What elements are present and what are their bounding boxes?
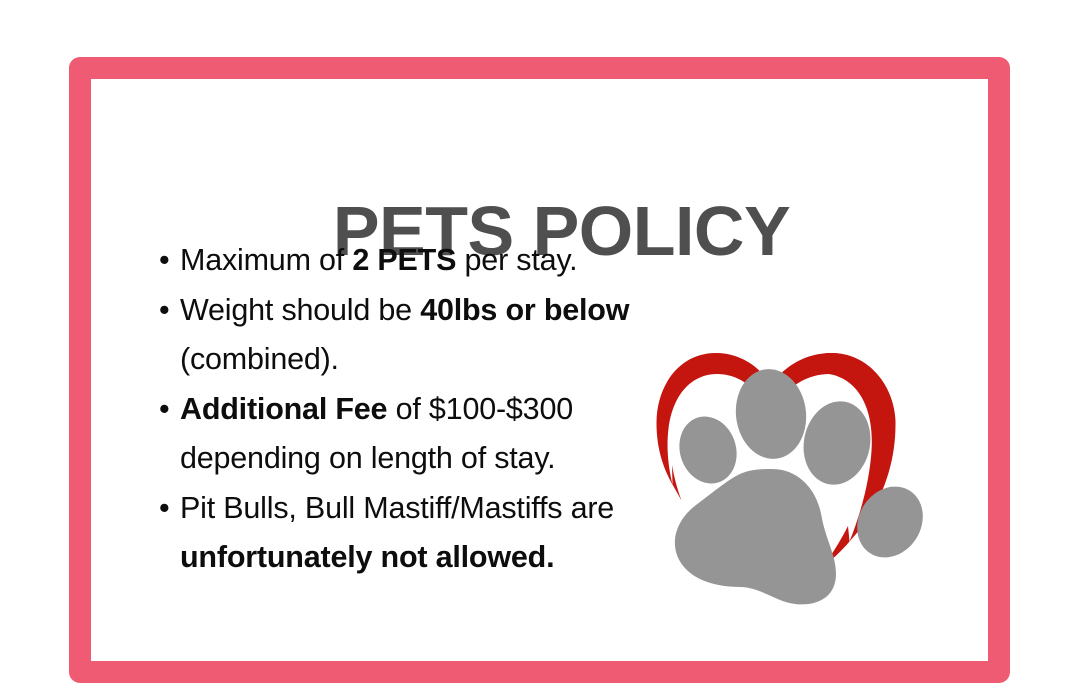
list-item: (combined).	[159, 336, 659, 384]
paw-main-pad	[675, 469, 836, 604]
list-item-text: Pit Bulls, Bull Mastiff/Mastiffs are	[180, 491, 614, 525]
list-item: •Maximum of 2 PETS per stay.	[159, 237, 659, 285]
list-item-text: per stay.	[456, 243, 577, 277]
bullet-point-icon: •	[159, 386, 169, 434]
bullet-point-icon: •	[159, 485, 169, 533]
bullet-point-icon: •	[159, 287, 169, 335]
heart-left-tip	[672, 465, 682, 501]
policy-bullet-list: •Maximum of 2 PETS per stay.•Weight shou…	[159, 237, 659, 584]
list-item-emphasis: unfortunately not allowed.	[180, 540, 554, 574]
pets-policy-sign: PETS POLICY •Maximum of 2 PETS per stay.…	[0, 0, 1080, 700]
list-item-text: depending on length of stay.	[180, 441, 555, 475]
list-item-text: Maximum of	[180, 243, 352, 277]
paw-toe-inner-right	[796, 395, 878, 491]
list-item: •Pit Bulls, Bull Mastiff/Mastiffs are	[159, 485, 659, 533]
list-item: unfortunately not allowed.	[159, 534, 659, 582]
list-item-emphasis: 2 PETS	[352, 243, 456, 277]
list-item: depending on length of stay.	[159, 435, 659, 483]
policy-card-frame: PETS POLICY •Maximum of 2 PETS per stay.…	[69, 57, 1010, 683]
bullet-point-icon: •	[159, 237, 169, 285]
list-item: •Weight should be 40lbs or below	[159, 287, 659, 335]
paw-toe-outer-right	[844, 474, 936, 570]
list-item: •Additional Fee of $100-$300	[159, 386, 659, 434]
heart-with-paw-print-icon	[656, 275, 986, 605]
list-item-text: (combined).	[180, 342, 339, 376]
list-item-emphasis: 40lbs or below	[420, 293, 629, 327]
list-item-emphasis: Additional Fee	[180, 392, 387, 426]
list-item-text: Weight should be	[180, 293, 420, 327]
paw-print-shape	[671, 365, 936, 604]
list-item-text: of $100-$300	[387, 392, 573, 426]
